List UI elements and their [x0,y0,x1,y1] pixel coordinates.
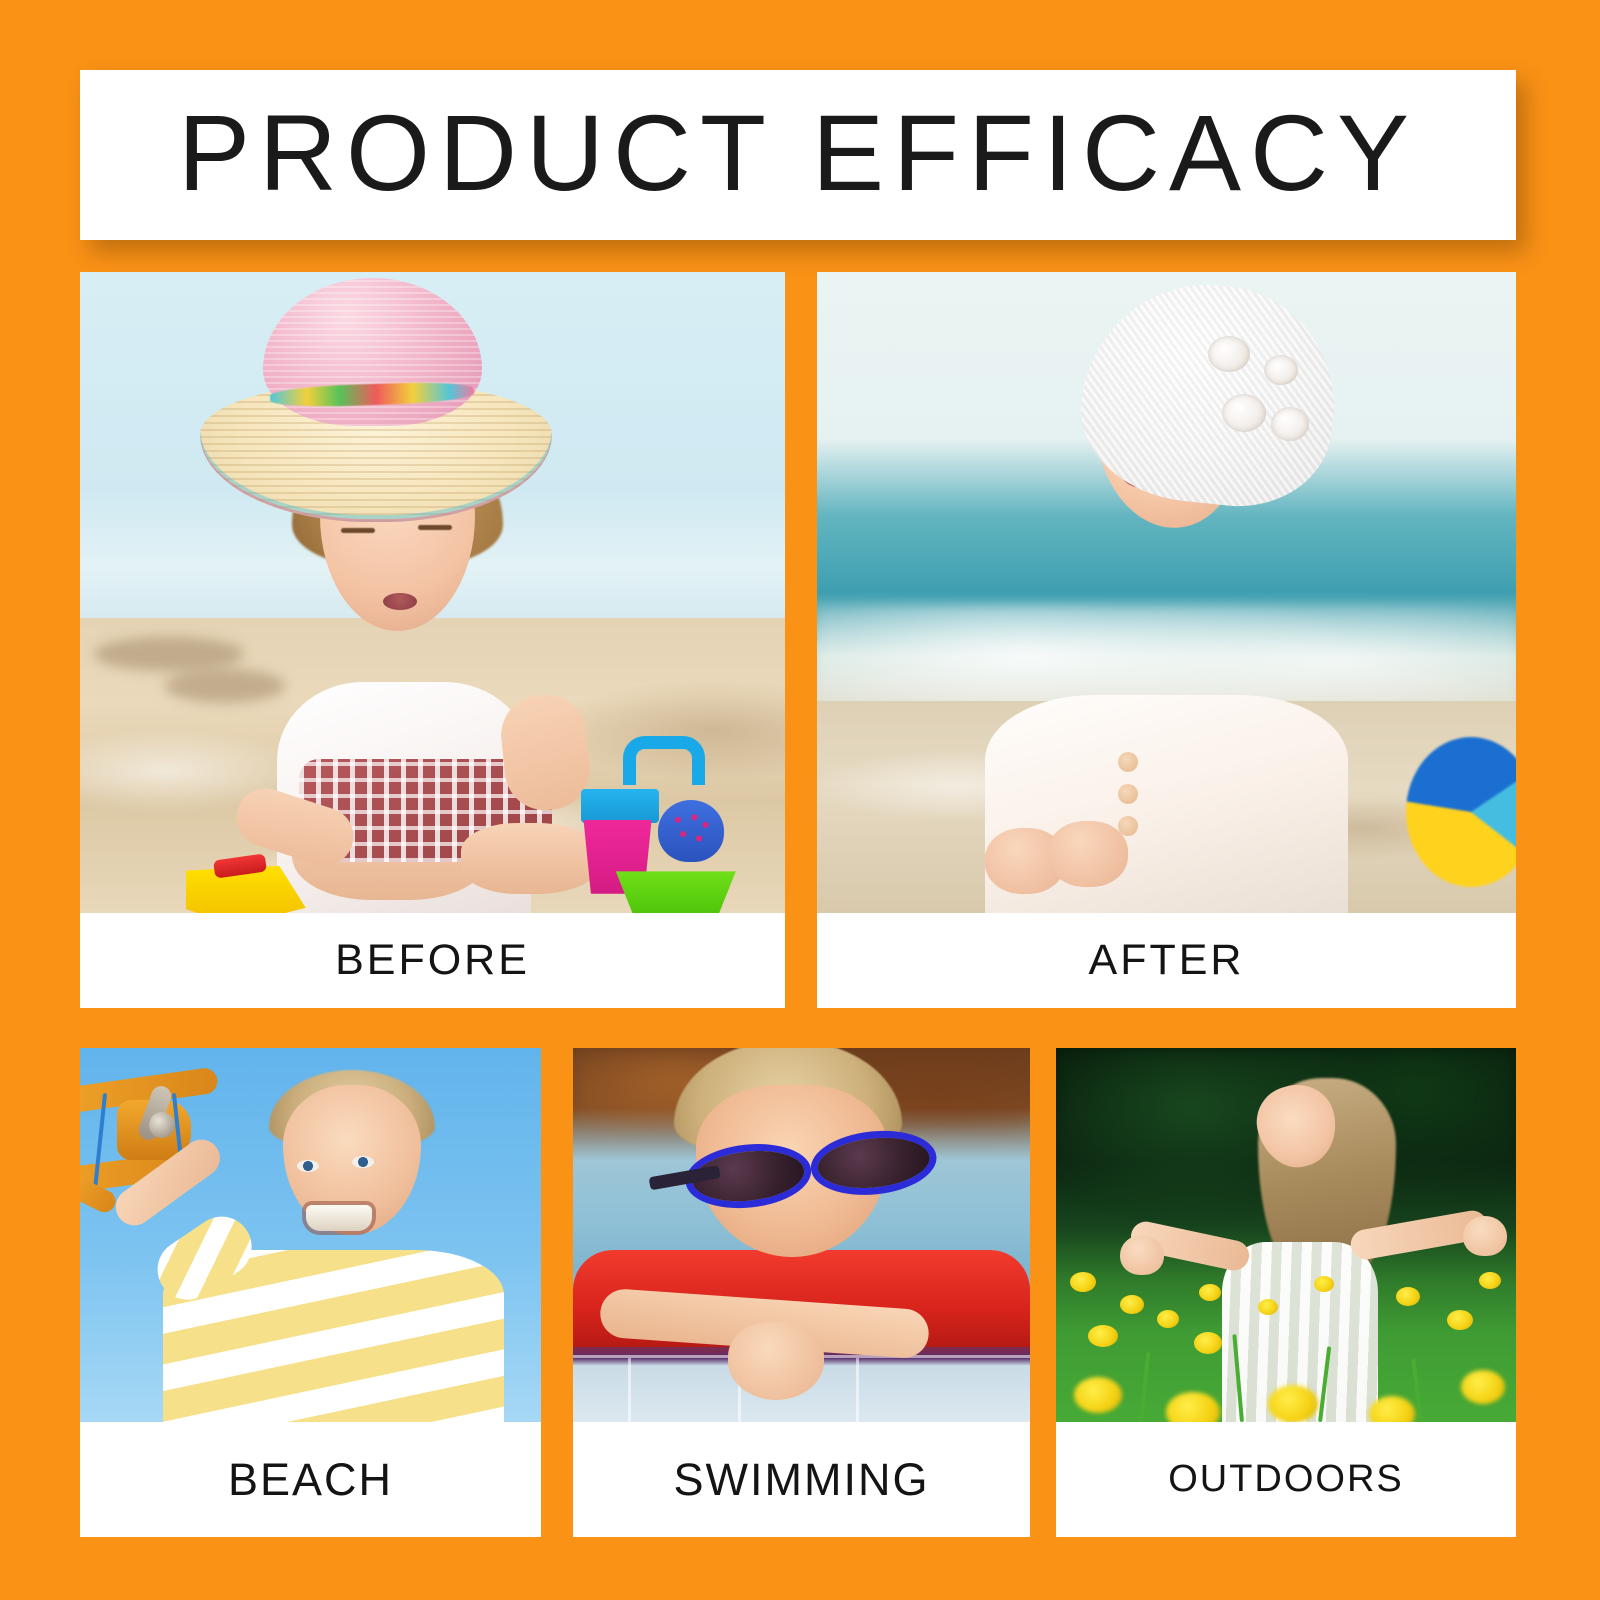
page-title: PRODUCT EFFICACY [178,99,1418,207]
dandelion-flower [1199,1284,1221,1301]
before-caption-label: BEFORE [335,936,530,985]
dandelion-flower [1314,1276,1334,1292]
product-efficacy-board: PRODUCT EFFICACY [0,0,1600,1600]
dandelion-flower [1088,1325,1118,1347]
outdoors-caption: OUTDOORS [1056,1422,1516,1537]
dandelion-flower [1120,1295,1144,1314]
blue-sieve [658,800,724,862]
biplane-nose-cone [149,1112,175,1138]
bonnet-flower [1271,407,1309,441]
blue-sky-backdrop [80,1048,541,1422]
dandelion-flower [1070,1272,1096,1292]
dandelion-flower [1258,1299,1278,1315]
tile-grout-line [856,1358,859,1422]
blue-toy-top [581,789,659,823]
sea-foam [817,605,1516,708]
outdoors-card[interactable]: OUTDOORS [1056,1048,1516,1537]
mouth-teeth [306,1205,372,1231]
dandelion-flower [1479,1272,1501,1289]
dandelion-flower [1369,1396,1415,1422]
boy-toy-biplane-sky-photo [80,1048,541,1422]
bonnet-flower [1222,394,1266,432]
after-caption-label: AFTER [1089,936,1245,985]
dress-button [1118,752,1138,772]
title-card: PRODUCT EFFICACY [80,70,1516,240]
before-caption: BEFORE [80,913,785,1008]
baby-white-bonnet-beach-photo [817,272,1516,913]
boy-goggles-pool-photo [573,1048,1030,1422]
before-card[interactable]: BEFORE [80,272,785,1008]
grass-blade [1139,1352,1150,1422]
dandelion-flower [1461,1370,1505,1404]
mouth [383,593,417,610]
swimming-caption: SWIMMING [573,1422,1030,1537]
girl-dandelion-meadow-photo [1056,1048,1516,1422]
dress-button [1118,784,1138,804]
blue-toy-handle [623,736,705,785]
dandelion-flower [1396,1287,1420,1306]
outdoors-caption-label: OUTDOORS [1168,1458,1404,1501]
dandelion-flower [1074,1377,1122,1413]
dandelion-flower [1157,1310,1179,1328]
pool-backdrop [573,1048,1030,1422]
goggle-lens [815,1133,931,1193]
toddler-pink-sunhat-beach-photo [80,272,785,913]
swimming-caption-label: SWIMMING [674,1454,930,1506]
beach-caption: BEACH [80,1422,541,1537]
girl-hand [1463,1216,1507,1256]
dandelion-flower [1166,1392,1220,1422]
girl-hand [1120,1235,1164,1275]
after-caption: AFTER [817,913,1516,1008]
sea-backdrop [817,272,1516,913]
eye [418,525,452,530]
tile-grout-line [628,1358,631,1422]
dandelion-flower [1447,1310,1473,1330]
beach-caption-label: BEACH [228,1454,393,1506]
beach-sky-sea-backdrop [80,272,785,913]
dandelion-flower [1268,1385,1318,1422]
eye [341,528,375,533]
meadow-backdrop [1056,1048,1516,1422]
beach-card[interactable]: BEACH [80,1048,541,1537]
baby-hand [1048,821,1128,887]
green-boat-toy [616,871,736,913]
dandelion-flower [1194,1332,1222,1354]
child-foot [461,823,602,894]
swimming-card[interactable]: SWIMMING [573,1048,1030,1537]
after-card[interactable]: AFTER [817,272,1516,1008]
boy-hand [728,1322,824,1400]
eye [297,1160,319,1172]
